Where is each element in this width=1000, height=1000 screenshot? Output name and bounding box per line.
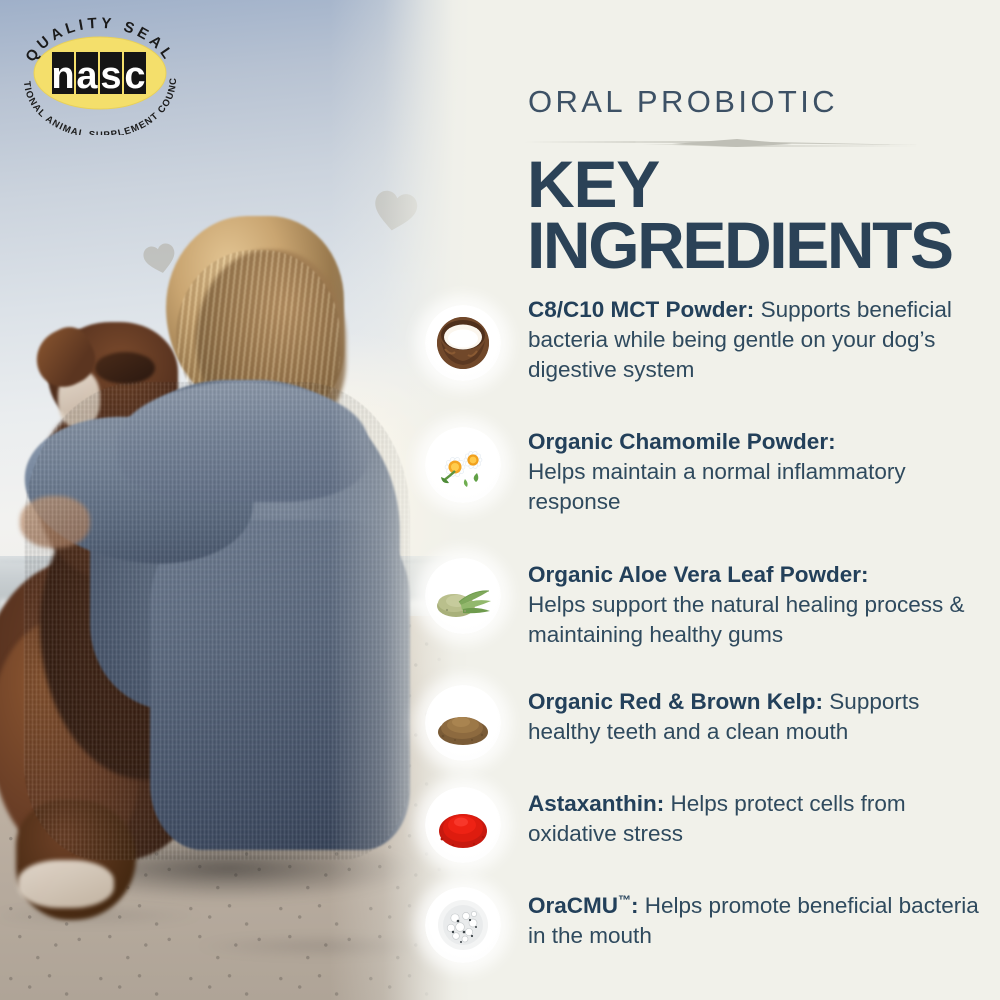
ingredient-text: OraCMU™: Helps promote beneficial bacter… [528, 891, 988, 951]
chamomile-flower-icon [425, 427, 501, 503]
beach-photo [0, 0, 470, 1000]
infographic-canvas: n a s c QUALITY SEAL NATIONAL ANIMAL SUP… [0, 0, 1000, 1000]
trademark-symbol: ™ [618, 893, 631, 908]
oracmu-granules-icon [425, 887, 501, 963]
ingredient-name: C8/C10 MCT Powder: [528, 297, 754, 322]
ingredient-name: Organic Aloe Vera Leaf Powder: [528, 562, 869, 587]
astaxanthin-powder-icon [425, 787, 501, 863]
svg-text:a: a [76, 55, 98, 97]
kelp-powder-icon [425, 685, 501, 761]
ingredient-text: Organic Aloe Vera Leaf Powder: Helps sup… [528, 560, 988, 650]
key-ingredients-panel: ORAL PROBIOTIC KEY INGREDIENTS C8/C10 MC… [470, 0, 1000, 1000]
nasc-quality-seal: n a s c QUALITY SEAL NATIONAL ANIMAL SUP… [10, 10, 190, 135]
ingredient-text: Astaxanthin: Helps protect cells from ox… [528, 789, 988, 849]
ingredient-description: Helps maintain a normal inflammatory res… [528, 459, 906, 514]
coconut-icon [425, 305, 501, 381]
svg-text:n: n [51, 55, 74, 97]
aloe-vera-leaf-icon [425, 558, 501, 634]
ingredient-text: Organic Red & Brown Kelp: Supports healt… [528, 687, 988, 747]
ingredient-name: Astaxanthin: [528, 791, 664, 816]
ingredient-text: C8/C10 MCT Powder: Supports beneficial b… [528, 295, 988, 385]
dog-snout [95, 352, 155, 384]
ingredient-name: Organic Red & Brown Kelp: [528, 689, 823, 714]
svg-text:s: s [100, 55, 121, 97]
dog-paw [18, 860, 114, 908]
svg-text:c: c [124, 55, 145, 97]
ingredient-name-text: OraCMU [528, 893, 618, 918]
ingredients-list: C8/C10 MCT Powder: Supports beneficial b… [470, 0, 1000, 1000]
ingredient-name: OraCMU™: [528, 893, 639, 918]
ingredient-name: Organic Chamomile Powder: [528, 429, 836, 454]
ingredient-text: Organic Chamomile Powder: Helps maintain… [528, 427, 988, 517]
ingredient-description: Helps support the natural healing proces… [528, 592, 965, 647]
